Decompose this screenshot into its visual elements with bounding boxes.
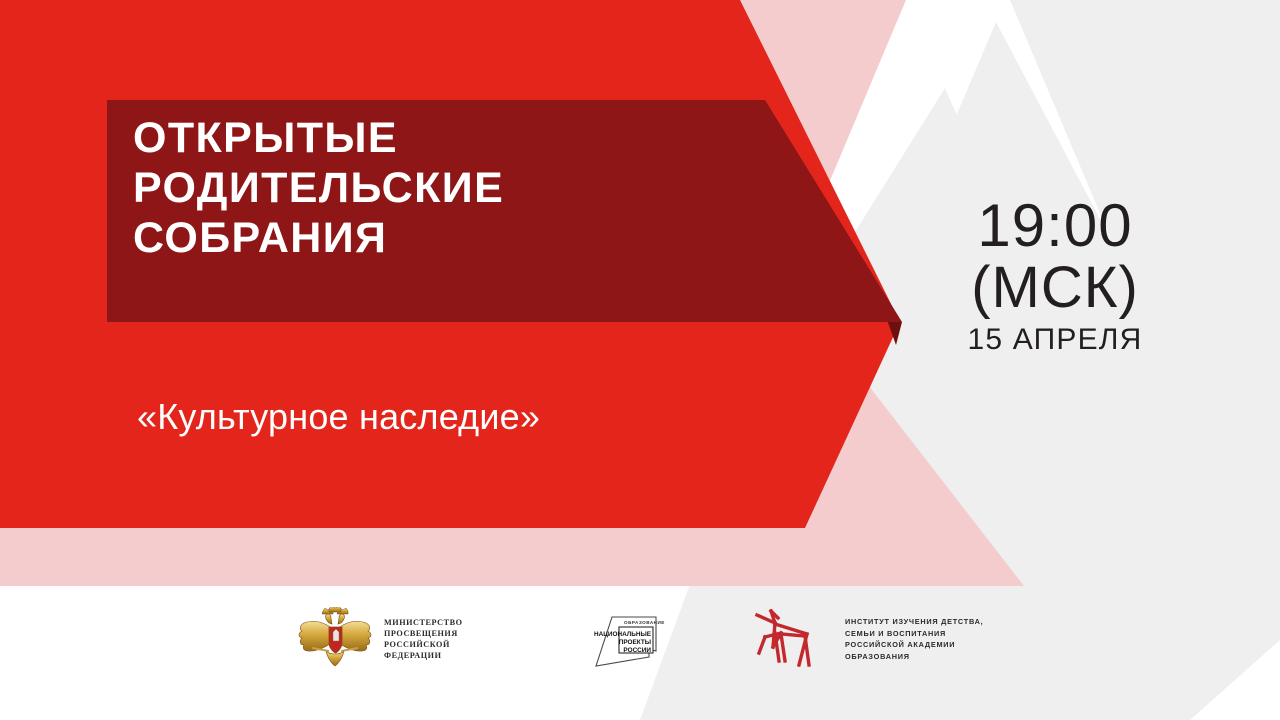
np-label-top: ОБРАЗОВАНИЕ	[624, 620, 665, 625]
event-time: 19:00	[930, 195, 1180, 257]
logo-institute-label: ИНСТИТУТ ИЗУЧЕНИЯ ДЕТСТВА, СЕМЬИ И ВОСПИ…	[845, 616, 983, 662]
red-horse-line-emblem	[745, 603, 833, 675]
page-title: ОТКРЫТЫЕ РОДИТЕЛЬСКИЕ СОБРАНИЯ	[133, 113, 504, 263]
double-headed-eagle-emblem	[296, 607, 374, 671]
event-date: 15 АПРЕЛЯ	[930, 323, 1180, 357]
subtitle: «Культурное наследие»	[137, 396, 540, 438]
logo-national-projects: ОБРАЗОВАНИЕ НАЦИОНАЛЬНЫЕ ПРОЕКТЫ РОССИИ	[588, 603, 666, 673]
logo-ministry-label: МИНИСТЕРСТВО ПРОСВЕЩЕНИЯ РОССИЙСКОЙ ФЕДЕ…	[384, 617, 463, 661]
event-timezone: (МСК)	[930, 257, 1180, 319]
svg-text:РОССИИ: РОССИИ	[623, 647, 651, 654]
footer-logos: МИНИСТЕРСТВО ПРОСВЕЩЕНИЯ РОССИЙСКОЙ ФЕДЕ…	[0, 585, 1280, 720]
svg-text:НАЦИОНАЛЬНЫЕ: НАЦИОНАЛЬНЫЕ	[594, 631, 652, 638]
logo-ministry-of-education: МИНИСТЕРСТВО ПРОСВЕЩЕНИЯ РОССИЙСКОЙ ФЕДЕ…	[296, 607, 463, 671]
svg-text:ПРОЕКТЫ: ПРОЕКТЫ	[619, 639, 651, 646]
logo-institute: ИНСТИТУТ ИЗУЧЕНИЯ ДЕТСТВА, СЕМЬИ И ВОСПИ…	[745, 603, 983, 675]
national-projects-flag-emblem: ОБРАЗОВАНИЕ НАЦИОНАЛЬНЫЕ ПРОЕКТЫ РОССИИ	[588, 603, 666, 673]
slide-canvas: ОТКРЫТЫЕ РОДИТЕЛЬСКИЕ СОБРАНИЯ «Культурн…	[0, 0, 1280, 720]
event-time-block: 19:00 (МСК) 15 АПРЕЛЯ	[930, 195, 1180, 357]
